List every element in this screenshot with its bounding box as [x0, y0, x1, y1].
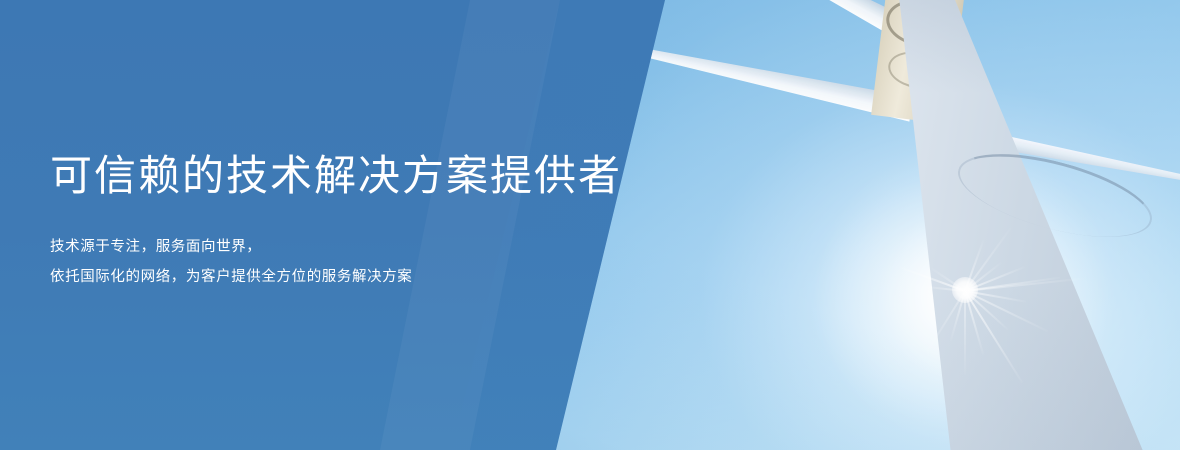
- sun-ray: [964, 291, 966, 375]
- banner-subtitle: 技术源于专注，服务面向世界， 依托国际化的网络，为客户提供全方位的服务解决方案: [50, 232, 412, 292]
- banner-text-content: 可信赖的技术解决方案提供者 技术源于专注，服务面向世界， 依托国际化的网络，为客…: [50, 0, 670, 450]
- hero-banner: 可信赖的技术解决方案提供者 技术源于专注，服务面向世界， 依托国际化的网络，为客…: [0, 0, 1180, 450]
- banner-subtitle-line-1: 技术源于专注，服务面向世界，: [50, 232, 412, 262]
- banner-subtitle-line-2: 依托国际化的网络，为客户提供全方位的服务解决方案: [50, 262, 412, 292]
- banner-headline: 可信赖的技术解决方案提供者: [50, 152, 622, 199]
